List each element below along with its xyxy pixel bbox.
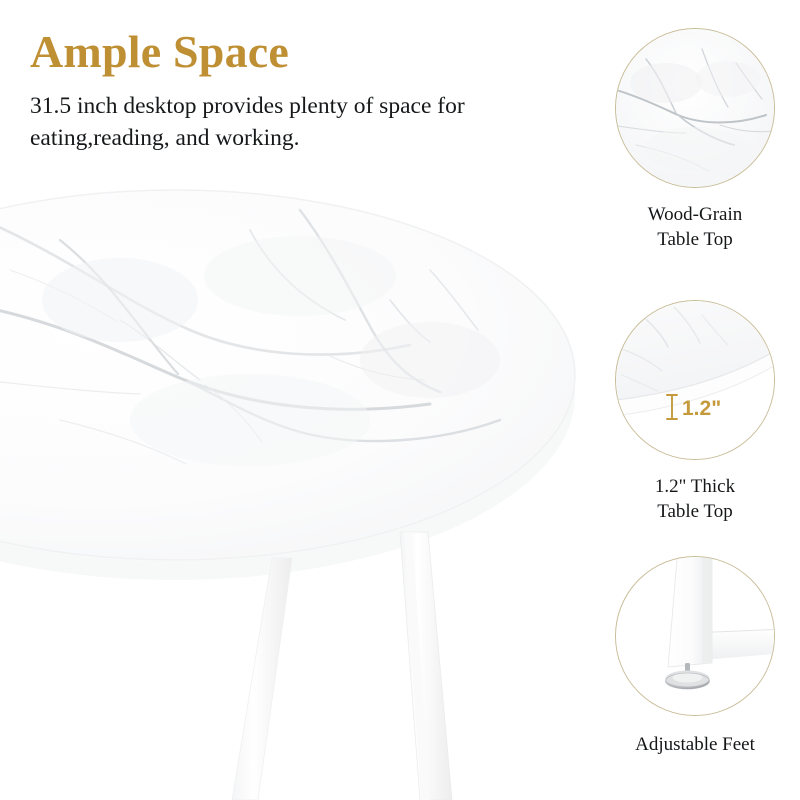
headline-block: Ample Space 31.5 inch desktop provides p… bbox=[30, 26, 550, 154]
page-description: 31.5 inch desktop provides plenty of spa… bbox=[30, 90, 500, 154]
feature-thick-table-top: 1.2" 1.2" Thick Table Top bbox=[590, 300, 800, 524]
feature-label: Wood-Grain Table Top bbox=[590, 202, 800, 252]
feature-label: Adjustable Feet bbox=[590, 732, 800, 757]
feature-callout-rail: Wood-Grain Table Top bbox=[590, 0, 800, 800]
table-edge-thickness-circle-icon: 1.2" bbox=[615, 300, 775, 460]
infographic-page: Ample Space 31.5 inch desktop provides p… bbox=[0, 0, 800, 800]
adjustable-foot-circle-icon bbox=[615, 556, 775, 716]
feature-label: 1.2" Thick Table Top bbox=[590, 474, 800, 524]
dimension-value: 1.2" bbox=[682, 397, 721, 420]
product-image bbox=[0, 180, 600, 800]
feature-adjustable-feet: Adjustable Feet bbox=[590, 556, 800, 757]
marble-table-top-circle-icon bbox=[615, 28, 775, 188]
feature-wood-grain-table-top: Wood-Grain Table Top bbox=[590, 28, 800, 252]
round-marble-table-illustration bbox=[0, 180, 600, 800]
table-leg-left bbox=[232, 558, 292, 800]
page-title: Ample Space bbox=[30, 26, 550, 78]
